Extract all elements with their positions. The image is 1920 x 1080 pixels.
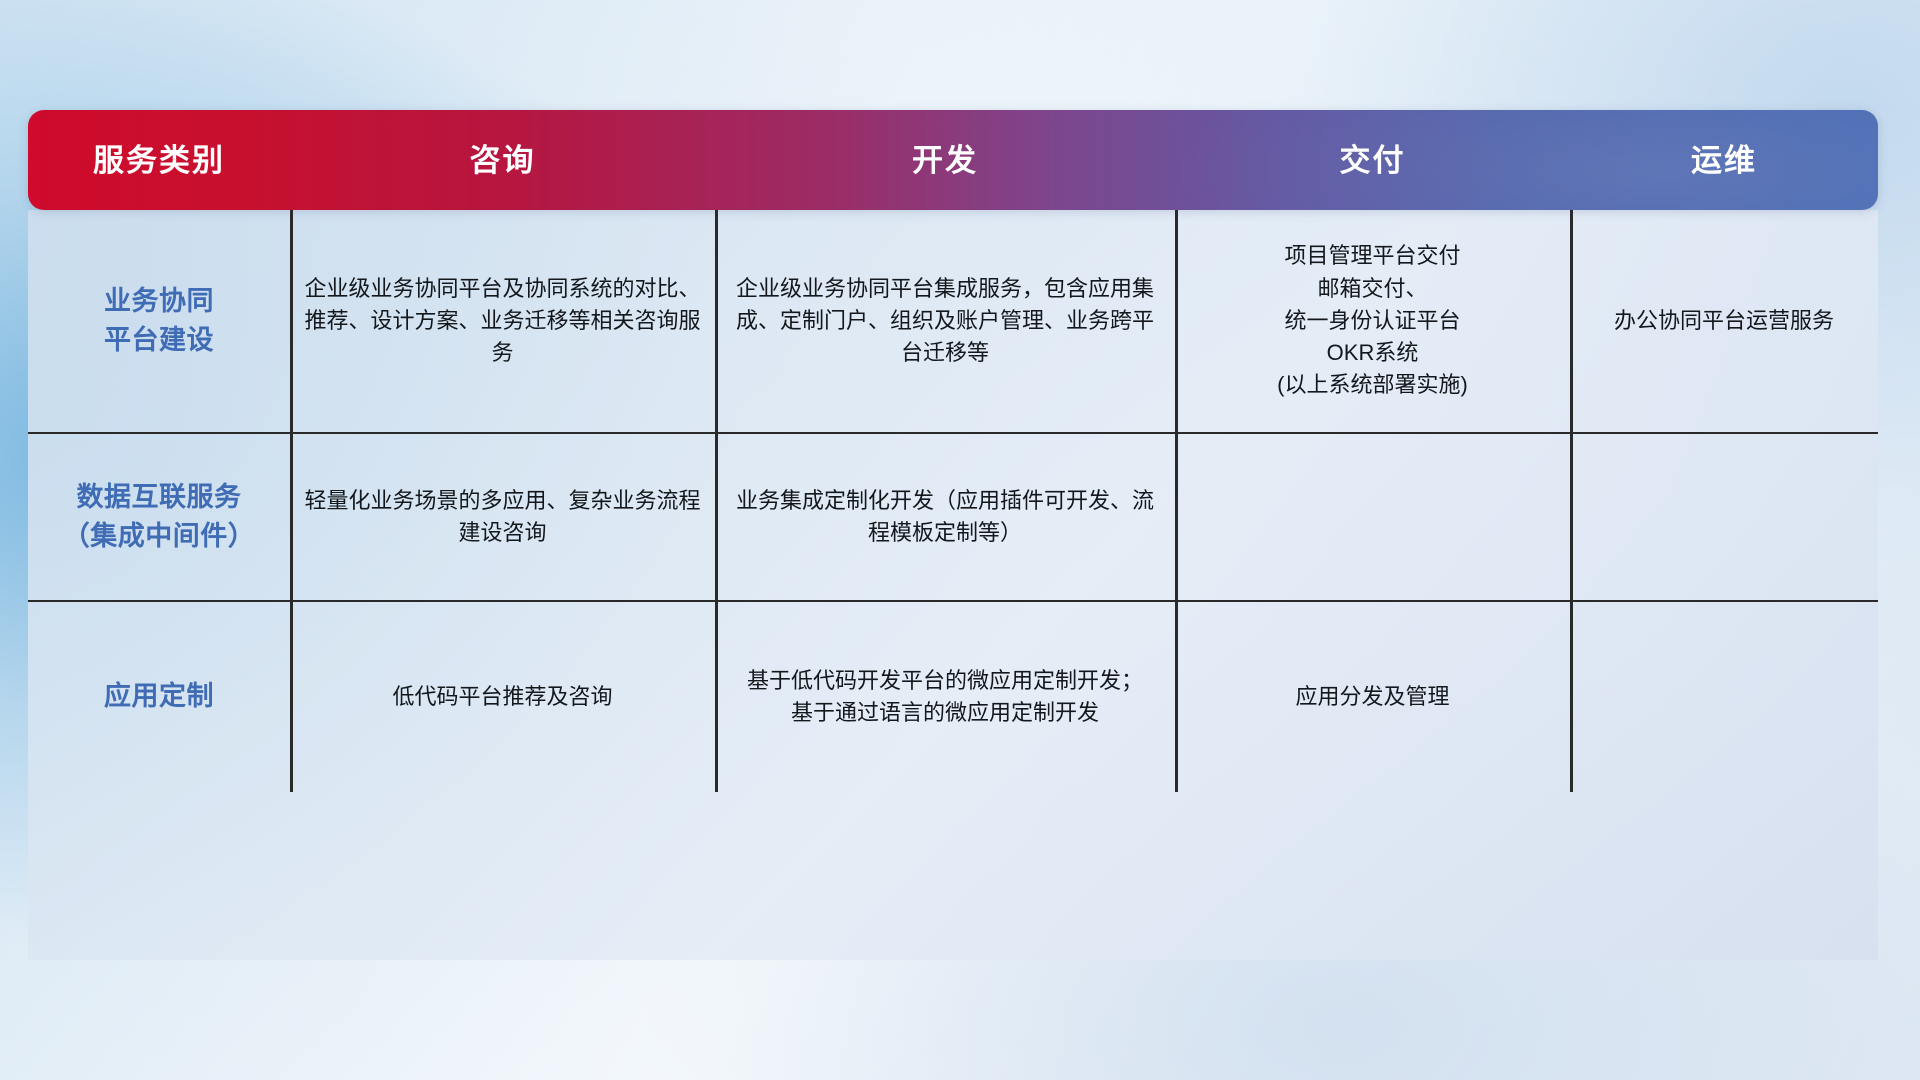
row-label-line-1: 数据互联服务	[77, 482, 242, 512]
row-label-line-2: （集成中间件）	[63, 521, 256, 551]
delivery-line-4: OKR系统	[1327, 340, 1419, 365]
cell-development-text: 基于低代码开发平台的微应用定制开发； 基于通过语言的微应用定制开发	[747, 665, 1143, 730]
cell-consulting: 低代码平台推荐及咨询	[290, 602, 715, 792]
cell-development: 企业级业务协同平台集成服务，包含应用集成、定制门户、组织及账户管理、业务跨平台迁…	[715, 210, 1175, 432]
cell-consulting-text: 企业级业务协同平台及协同系统的对比、推荐、设计方案、业务迁移等相关咨询服务	[304, 273, 701, 370]
delivery-line-5: (以上系统部署实施)	[1277, 372, 1468, 397]
table-row: 业务协同 平台建设 企业级业务协同平台及协同系统的对比、推荐、设计方案、业务迁移…	[28, 210, 1878, 434]
row-label-application-customization: 应用定制	[28, 602, 290, 792]
cell-delivery-text: 应用分发及管理	[1295, 681, 1449, 713]
row-label-data-interconnection: 数据互联服务 （集成中间件）	[28, 434, 290, 600]
cell-operations	[1570, 602, 1878, 792]
table-header-row: 服务类别 咨询 开发 交付 运维	[28, 110, 1878, 210]
row-label-line-1: 应用定制	[104, 681, 214, 711]
table-row: 数据互联服务 （集成中间件） 轻量化业务场景的多应用、复杂业务流程建设咨询 业务…	[28, 434, 1878, 602]
column-header-operations: 运维	[1570, 145, 1878, 176]
delivery-line-2: 邮箱交付、	[1317, 276, 1427, 301]
cell-delivery: 项目管理平台交付 邮箱交付、 统一身份认证平台 OKR系统 (以上系统部署实施)	[1175, 210, 1570, 432]
cell-consulting: 企业级业务协同平台及协同系统的对比、推荐、设计方案、业务迁移等相关咨询服务	[290, 210, 715, 432]
row-label-line-1: 业务协同	[104, 286, 214, 316]
cell-development-text: 企业级业务协同平台集成服务，包含应用集成、定制门户、组织及账户管理、业务跨平台迁…	[729, 273, 1161, 370]
row-label-business-collaboration: 业务协同 平台建设	[28, 210, 290, 432]
service-matrix-table: 服务类别 咨询 开发 交付 运维 业务协同 平台建设 企业级业务协同平台及协同系…	[28, 110, 1878, 960]
delivery-line-1: 项目管理平台交付	[1284, 243, 1460, 268]
column-header-service-category: 服务类别	[28, 145, 290, 176]
cell-consulting: 轻量化业务场景的多应用、复杂业务流程建设咨询	[290, 434, 715, 600]
cell-development-text: 业务集成定制化开发（应用插件可开发、流程模板定制等）	[729, 485, 1161, 550]
cell-delivery	[1175, 434, 1570, 600]
row-label-line-2: 平台建设	[104, 325, 214, 355]
table-body: 业务协同 平台建设 企业级业务协同平台及协同系统的对比、推荐、设计方案、业务迁移…	[28, 210, 1878, 960]
cell-consulting-text: 轻量化业务场景的多应用、复杂业务流程建设咨询	[304, 485, 701, 550]
cell-delivery-text: 项目管理平台交付 邮箱交付、 统一身份认证平台 OKR系统 (以上系统部署实施)	[1277, 240, 1468, 402]
delivery-line-3: 统一身份认证平台	[1284, 308, 1460, 333]
table-row: 应用定制 低代码平台推荐及咨询 基于低代码开发平台的微应用定制开发； 基于通过语…	[28, 602, 1878, 792]
cell-operations-text: 办公协同平台运营服务	[1614, 305, 1834, 337]
column-header-delivery: 交付	[1175, 145, 1570, 176]
development-line-1: 基于低代码开发平台的微应用定制开发；	[747, 668, 1143, 693]
cell-consulting-text: 低代码平台推荐及咨询	[392, 681, 612, 713]
column-header-development: 开发	[715, 145, 1175, 176]
cell-operations	[1570, 434, 1878, 600]
cell-delivery: 应用分发及管理	[1175, 602, 1570, 792]
column-header-consulting: 咨询	[290, 145, 715, 176]
development-line-2: 基于通过语言的微应用定制开发	[791, 700, 1099, 725]
cell-operations: 办公协同平台运营服务	[1570, 210, 1878, 432]
cell-development: 基于低代码开发平台的微应用定制开发； 基于通过语言的微应用定制开发	[715, 602, 1175, 792]
cell-development: 业务集成定制化开发（应用插件可开发、流程模板定制等）	[715, 434, 1175, 600]
